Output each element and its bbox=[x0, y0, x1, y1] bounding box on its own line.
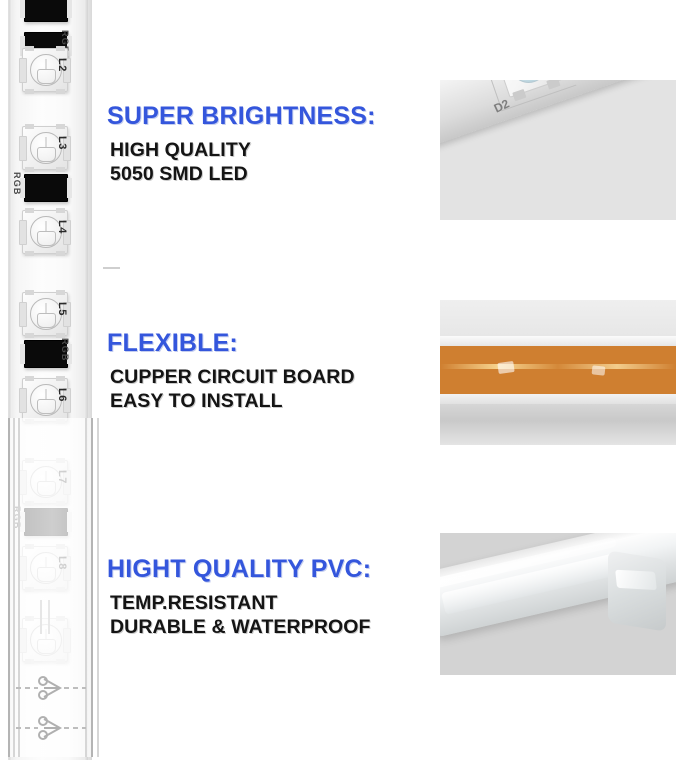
cut-mark bbox=[14, 715, 88, 741]
pad-right bbox=[67, 178, 72, 198]
copper-glint bbox=[497, 361, 514, 374]
rgb-label: RGB bbox=[12, 172, 22, 196]
copper-braid-photo bbox=[440, 300, 676, 445]
feature-body-line: EASY TO INSTALL bbox=[110, 390, 437, 414]
led-pad bbox=[25, 124, 34, 129]
led-tab-left bbox=[19, 136, 27, 161]
feature-heading: FLEXIBLE: bbox=[107, 330, 437, 356]
pvc-sleeve-edge bbox=[18, 418, 20, 757]
braid-background-top bbox=[440, 300, 676, 340]
led-pad bbox=[56, 124, 65, 129]
pvc-sleeve-edge bbox=[8, 418, 10, 757]
led-pad bbox=[25, 208, 34, 213]
led-label: L6 bbox=[56, 388, 68, 402]
led-tab-left bbox=[19, 302, 27, 327]
pad-left bbox=[20, 0, 25, 18]
pvc-sleeve-overlay bbox=[0, 418, 105, 757]
pad-left bbox=[20, 344, 25, 364]
pcb-strip-photo: R11 D2 + bbox=[440, 80, 676, 147]
pvc-sleeve-edge bbox=[97, 418, 99, 757]
led-label: L3 bbox=[56, 136, 68, 150]
feature-body-line: DURABLE & WATERPROOF bbox=[110, 616, 437, 640]
braid-background-bottom bbox=[440, 404, 676, 445]
led-tab-left bbox=[19, 220, 27, 245]
led-pad bbox=[25, 376, 34, 381]
feature-body: HIGH QUALITY 5050 SMD LED bbox=[110, 139, 437, 187]
led-pad bbox=[56, 89, 65, 94]
copper-weave bbox=[440, 346, 676, 396]
feature-body-line: HIGH QUALITY bbox=[110, 139, 437, 163]
led-label: L2 bbox=[56, 58, 68, 72]
tube-cap-facet bbox=[615, 570, 657, 590]
led-pad bbox=[56, 251, 65, 256]
led-pad bbox=[56, 290, 65, 295]
feature-heading: SUPER BRIGHTNESS: bbox=[107, 103, 437, 129]
pad-right bbox=[67, 0, 72, 18]
led-tab-left bbox=[19, 388, 27, 413]
led-pad bbox=[25, 290, 34, 295]
led-tab-left bbox=[19, 58, 27, 83]
feature-body-line: CUPPER CIRCUIT BOARD bbox=[110, 366, 437, 390]
copper-glint bbox=[592, 365, 606, 375]
divider-tick bbox=[103, 267, 120, 269]
feature-block-flexible: FLEXIBLE: CUPPER CIRCUIT BOARD EASY TO I… bbox=[107, 330, 437, 414]
led-label: L4 bbox=[56, 220, 68, 234]
feature-body: CUPPER CIRCUIT BOARD EASY TO INSTALL bbox=[110, 366, 437, 414]
pvc-sleeve-edge bbox=[13, 418, 15, 757]
led-label: L5 bbox=[56, 302, 68, 316]
feature-heading: HIGHT QUALITY PVC: bbox=[107, 556, 437, 582]
rgb-resistor-block bbox=[24, 174, 68, 202]
rgb-label: RGB bbox=[60, 338, 70, 362]
photo-pcb-smd-led: R11 D2 + bbox=[440, 80, 676, 220]
copper-highlight bbox=[440, 364, 676, 369]
led-pad bbox=[56, 46, 65, 51]
led-pad bbox=[56, 376, 65, 381]
led-pad bbox=[25, 89, 34, 94]
led-pad bbox=[25, 251, 34, 256]
led-pad bbox=[25, 46, 34, 51]
photo-pvc-tube bbox=[440, 533, 676, 675]
feature-body: TEMP.RESISTANT DURABLE & WATERPROOF bbox=[110, 592, 437, 640]
pvc-sleeve-edge bbox=[85, 418, 87, 757]
cut-mark bbox=[14, 675, 88, 701]
photo-copper-braid bbox=[440, 300, 676, 445]
led-pad bbox=[56, 167, 65, 172]
scissors-icon bbox=[14, 675, 88, 701]
led-pad bbox=[25, 333, 34, 338]
pvc-sleeve-edge bbox=[91, 418, 93, 757]
led-pad bbox=[56, 208, 65, 213]
led-strip-diagram: RGB L2 L3 RGB bbox=[0, 0, 108, 757]
scissors-icon bbox=[14, 715, 88, 741]
infographic-canvas: RGB L2 L3 RGB bbox=[0, 0, 679, 757]
feature-body-line: 5050 SMD LED bbox=[110, 163, 437, 187]
led-pad bbox=[25, 167, 34, 172]
feature-block-super-brightness: SUPER BRIGHTNESS: HIGH QUALITY 5050 SMD … bbox=[107, 103, 437, 187]
feature-body-line: TEMP.RESISTANT bbox=[110, 592, 437, 616]
pvc-tube-end-cap bbox=[608, 550, 666, 631]
feature-block-pvc-quality: HIGHT QUALITY PVC: TEMP.RESISTANT DURABL… bbox=[107, 556, 437, 640]
rgb-resistor-block bbox=[24, 0, 68, 22]
